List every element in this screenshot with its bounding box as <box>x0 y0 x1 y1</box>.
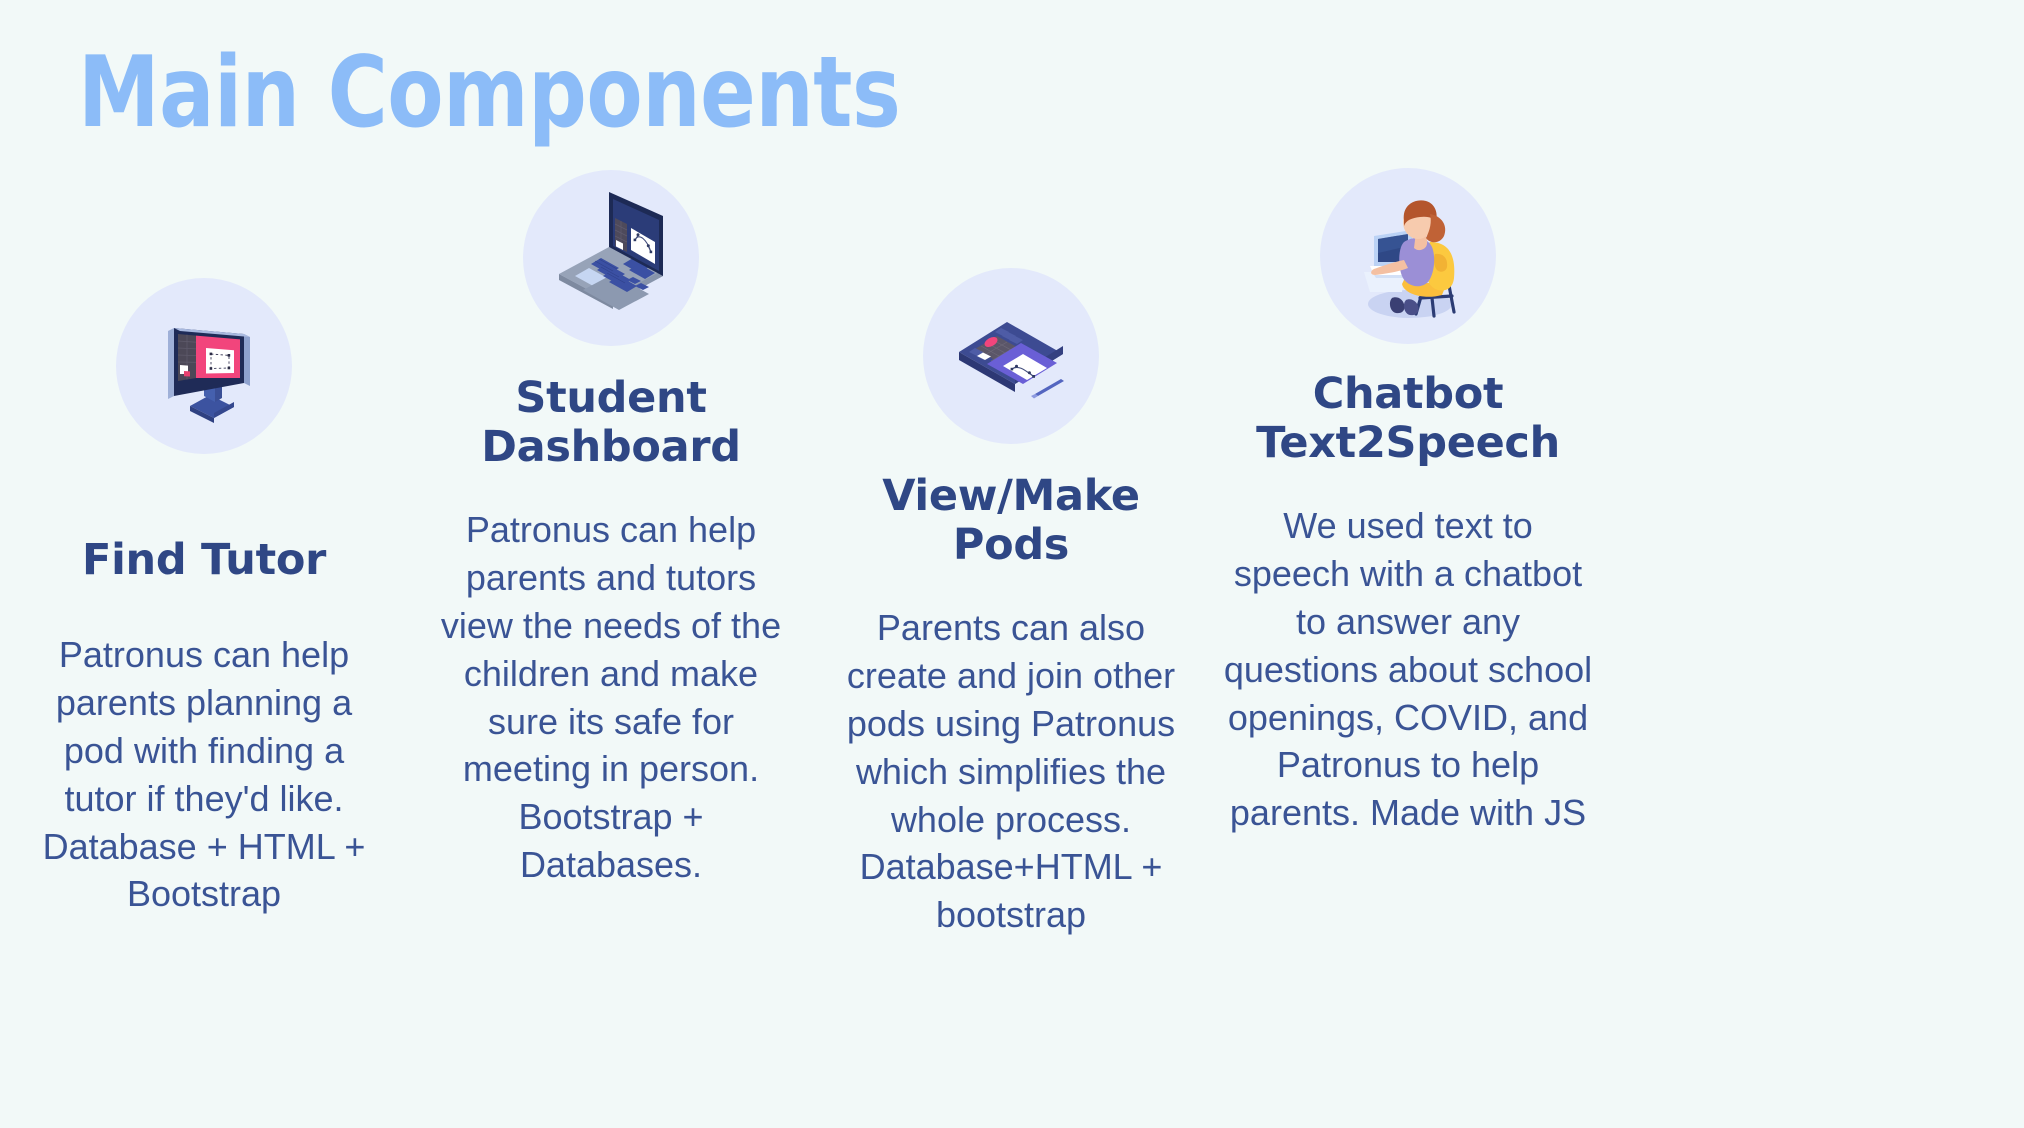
isometric-laptop-icon <box>523 170 699 346</box>
component-body-text: Patronus can help parents planning a pod… <box>34 631 374 918</box>
component-body-text: We used text to speech with a chatbot to… <box>1222 502 1594 837</box>
isometric-desktop-monitor-icon <box>116 278 292 454</box>
icon-circle-student-dashboard <box>523 170 699 346</box>
isometric-drawing-tablet-icon <box>923 268 1099 444</box>
component-body-text: Parents can also create and join other p… <box>836 604 1186 939</box>
component-body-text: Patronus can help parents and tutors vie… <box>436 506 786 889</box>
component-card-student-dashboard: Student Dashboard Patronus can help pare… <box>425 170 797 889</box>
component-card-view-make-pods: View/Make Pods Parents can also create a… <box>825 268 1197 939</box>
component-card-find-tutor: Find Tutor Patronus can help parents pla… <box>18 278 390 918</box>
icon-circle-view-make-pods <box>923 268 1099 444</box>
slide-canvas: Main Components <box>0 0 2024 1128</box>
component-card-chatbot-text2speech: Chatbot Text2Speech We used text to spee… <box>1218 168 1598 837</box>
person-at-laptop-icon <box>1320 168 1496 344</box>
page-title: Main Components <box>78 42 900 145</box>
component-heading: Student Dashboard <box>425 374 797 472</box>
icon-circle-find-tutor <box>116 278 292 454</box>
component-heading: Find Tutor <box>82 536 326 585</box>
icon-circle-chatbot-text2speech <box>1320 168 1496 344</box>
component-heading: Chatbot Text2Speech <box>1218 370 1598 468</box>
component-heading: View/Make Pods <box>825 472 1197 570</box>
